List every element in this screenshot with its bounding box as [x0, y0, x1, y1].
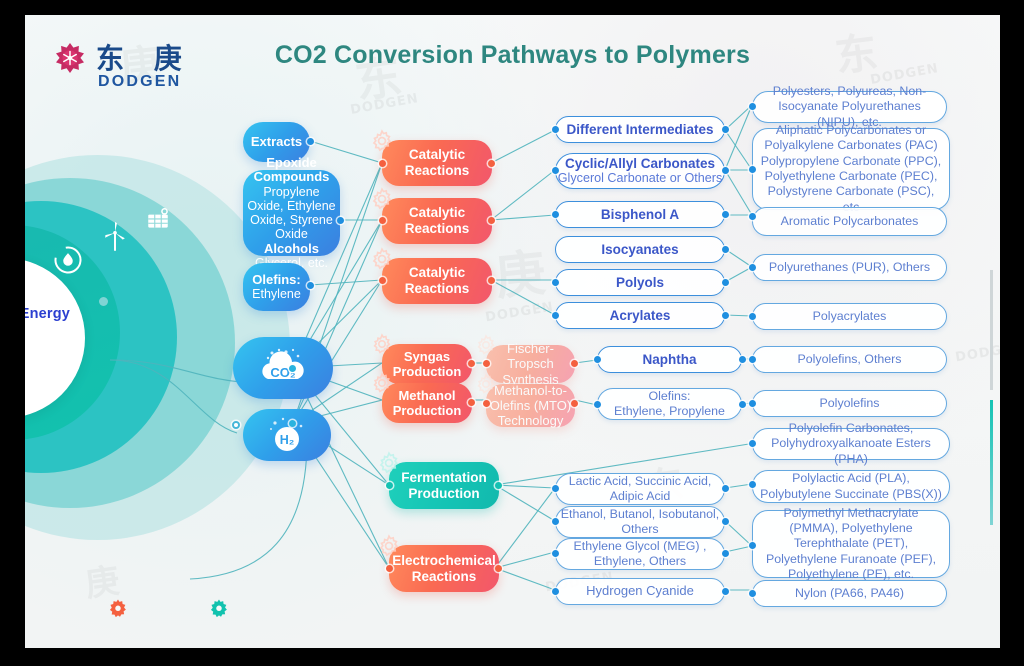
connector-dot	[488, 160, 495, 167]
connector-dot	[488, 277, 495, 284]
connector-dot	[749, 542, 756, 549]
page-title: CO2 Conversion Pathways to Polymers	[25, 41, 1000, 70]
connector-dot-co2-hub	[289, 365, 296, 372]
intermediate-meg[interactable]: Ethylene Glycol (MEG) , Ethylene, Others	[555, 538, 725, 570]
intermediate-label: Acrylates	[610, 308, 671, 324]
connector-dot	[386, 565, 393, 572]
connector-dot	[739, 401, 746, 408]
renewable-core-dot	[99, 297, 108, 306]
screenshot-canvas: 东 庚 DODGEN 东 DODGEN 庚 DODGEN 东 DODGEN DO…	[0, 0, 1024, 666]
intermediate-acids[interactable]: Lactic Acid, Succinic Acid, Adipic Acid	[555, 473, 725, 505]
connector-dot	[483, 400, 490, 407]
connector-dot	[722, 211, 729, 218]
connector-dot	[749, 356, 756, 363]
feedstock-olefins-title: Olefins:	[252, 273, 300, 288]
process-label: Methanol Production	[382, 388, 472, 419]
process-catalytic-reactions-1[interactable]: Catalytic Reactions	[382, 140, 492, 186]
intermediate-label: Bisphenol A	[601, 207, 679, 223]
polymer-polyacrylates[interactable]: Polyacrylates	[752, 303, 947, 330]
intermediate-hydrogen-cyanide[interactable]: Hydrogen Cyanide	[555, 578, 725, 605]
connector-dot	[488, 217, 495, 224]
polymer-polyolefin-carbonates-pha[interactable]: Polyolefin Carbonates, Polyhydroxyalkano…	[752, 428, 950, 460]
connector-dot	[571, 400, 578, 407]
connector-dot	[552, 167, 559, 174]
connector-dot	[495, 565, 502, 572]
intermediate-label: Cyclic/Allyl Carbonates	[565, 156, 715, 172]
gear-icon	[208, 598, 230, 620]
intermediate-polyols[interactable]: Polyols	[555, 269, 725, 296]
connector-dot	[722, 167, 729, 174]
watermark-glyph: 庚	[491, 233, 548, 310]
connector-dot	[552, 126, 559, 133]
intermediate-note: Glycerol Carbonate or Others	[558, 171, 723, 186]
feedstock-epoxide-title: Epoxide Compounds	[247, 156, 336, 185]
connector-dot	[749, 166, 756, 173]
intermediate-note: Lactic Acid, Succinic Acid, Adipic Acid	[556, 474, 724, 505]
connector-dot	[468, 399, 475, 406]
intermediate-naphtha[interactable]: Naphtha	[597, 346, 742, 373]
polymer-aliphatic-polycarbonates[interactable]: Aliphatic Polycarbonates or Polyalkylene…	[752, 128, 950, 210]
connector-dot	[552, 312, 559, 319]
connector-dot	[722, 518, 729, 525]
process-syngas-production[interactable]: Syngas Production	[382, 344, 472, 384]
process-label: Catalytic Reactions	[382, 147, 492, 179]
connector-dot	[483, 360, 490, 367]
subprocess-fischer-tropsch[interactable]: Fischer-Tropsch Synthesis	[486, 345, 575, 383]
subprocess-label: Fischer-Tropsch Synthesis	[486, 341, 575, 387]
intermediate-note: Ethylene Glycol (MEG) , Ethylene, Others	[556, 539, 724, 570]
intermediate-acrylates[interactable]: Acrylates	[555, 302, 725, 329]
svg-text:H₂: H₂	[280, 433, 295, 447]
process-catalytic-reactions-2[interactable]: Catalytic Reactions	[382, 198, 492, 244]
intermediate-note: Hydrogen Cyanide	[586, 583, 694, 599]
connector-dot	[594, 401, 601, 408]
connector-dot	[749, 440, 756, 447]
feedstock-co2[interactable]: CO₂	[233, 337, 333, 399]
polymer-polyesters-polyureas[interactable]: Polyesters, Polyureas, Non-Isocyanate Po…	[752, 91, 947, 123]
subprocess-label: Methanol-to-Olefins (MTO) Technology	[486, 383, 575, 429]
connector-dot	[337, 217, 344, 224]
brand-name-en: DODGEN	[98, 73, 181, 91]
process-label: Electrochemical Reactions	[389, 553, 499, 585]
feedstock-epoxide-compounds[interactable]: Epoxide Compounds Propylene Oxide, Ethyl…	[243, 170, 340, 256]
edge-artifact	[990, 400, 993, 525]
feedstock-olefins[interactable]: Olefins: Ethylene	[243, 263, 310, 311]
connector-dot	[307, 138, 314, 145]
process-fermentation-production[interactable]: Fermentation Production	[389, 462, 499, 509]
polymer-polyolefins[interactable]: Polyolefins	[752, 390, 947, 417]
connector-dot	[722, 246, 729, 253]
connector-dot	[552, 279, 559, 286]
process-label: Syngas Production	[382, 349, 472, 380]
polymer-label: Polyolefins, Others	[798, 352, 902, 367]
connector-dot	[386, 482, 393, 489]
feedstock-olefins-sub: Ethylene	[252, 287, 301, 301]
intermediate-bisphenol-a[interactable]: Bisphenol A	[555, 201, 725, 228]
connector-dot-h2-hub	[289, 420, 296, 427]
feedstock-extracts-label: Extracts	[251, 135, 302, 150]
connector-dot	[552, 518, 559, 525]
connector-dot	[468, 360, 475, 367]
connector-dot	[749, 213, 756, 220]
connector-dot	[379, 217, 386, 224]
connector-dot	[722, 588, 729, 595]
solar-panel-icon	[145, 207, 171, 239]
polymer-aromatic-polycarbonates[interactable]: Aromatic Polycarbonates	[752, 207, 947, 236]
connector-dot	[552, 485, 559, 492]
process-label: Fermentation Production	[389, 470, 499, 502]
intermediate-isocyanates[interactable]: Isocyanates	[555, 236, 725, 263]
feedstock-alcohols-title: Alcohols	[264, 242, 319, 257]
connector-dot	[552, 550, 559, 557]
intermediate-label: Different Intermediates	[566, 122, 713, 138]
polymer-label: Polyurethanes (PUR), Others	[769, 260, 930, 275]
polymer-label: Polymethyl Methacrylate (PMMA), Polyethy…	[758, 506, 944, 583]
feedstock-h2[interactable]: H₂	[243, 409, 331, 461]
process-methanol-production[interactable]: Methanol Production	[382, 383, 472, 423]
connector-dot	[749, 590, 756, 597]
polymer-polyurethanes[interactable]: Polyurethanes (PUR), Others	[752, 254, 947, 281]
connector-dot	[749, 313, 756, 320]
water-drop-icon	[53, 245, 83, 282]
connector-dot	[749, 264, 756, 271]
polymer-label: Polyolefins	[820, 396, 880, 411]
connector-dot	[379, 160, 386, 167]
watermark-text: DODGEN	[484, 300, 555, 326]
intermediate-label: Naphtha	[643, 352, 697, 368]
connector-dot	[232, 421, 240, 429]
polymer-label: Aliphatic Polycarbonates or Polyalkylene…	[758, 123, 944, 215]
connector-dot	[722, 126, 729, 133]
diagram-board: 东 庚 DODGEN 东 DODGEN 庚 DODGEN 东 DODGEN DO…	[25, 15, 1000, 648]
connector-dot	[552, 211, 559, 218]
polymer-pmma-pet-pef-pe[interactable]: Polymethyl Methacrylate (PMMA), Polyethy…	[752, 510, 950, 578]
process-label: Catalytic Reactions	[382, 205, 492, 237]
connector-dot	[307, 282, 314, 289]
intermediate-alcohols[interactable]: Ethanol, Butanol, Isobutanol, Others	[555, 506, 725, 538]
polymer-nylon[interactable]: Nylon (PA66, PA46)	[752, 580, 947, 607]
connector-dot	[722, 550, 729, 557]
wind-turbine-icon	[100, 220, 130, 259]
intermediate-different-intermediates[interactable]: Different Intermediates	[555, 116, 725, 143]
connector-dot	[749, 400, 756, 407]
watermark-text: DODGEN	[954, 340, 1000, 366]
watermark-text: DODGEN	[349, 91, 420, 118]
intermediate-label: Isocyanates	[601, 242, 678, 258]
intermediate-cyclic-allyl-carbonates[interactable]: Cyclic/Allyl Carbonates Glycerol Carbona…	[555, 153, 725, 189]
connector-dot	[749, 103, 756, 110]
polymer-polyolefins-others[interactable]: Polyolefins, Others	[752, 346, 947, 373]
connector-dot	[722, 312, 729, 319]
process-label: Catalytic Reactions	[382, 265, 492, 297]
polymer-label: Aromatic Polycarbonates	[781, 214, 919, 229]
polymer-label: Polyacrylates	[813, 309, 887, 324]
feedstock-epoxide-sub: Propylene Oxide, Ethylene Oxide, Styrene…	[247, 185, 336, 242]
intermediate-note: Ethanol, Butanol, Isobutanol, Others	[556, 507, 724, 538]
polymer-pla-pbs[interactable]: Polylactic Acid (PLA), Polybutylene Succ…	[752, 470, 950, 503]
polymer-label: Polyolefin Carbonates, Polyhydroxyalkano…	[758, 421, 944, 467]
process-electrochemical-reactions[interactable]: Electrochemical Reactions	[389, 545, 499, 592]
connector-dot	[379, 277, 386, 284]
co2-cloud-icon: CO₂	[252, 347, 314, 389]
connector-dot	[722, 485, 729, 492]
intermediate-label: Polyols	[616, 275, 664, 291]
renewable-energy-label: Renewable Energy	[25, 305, 79, 323]
polymer-label: Nylon (PA66, PA46)	[795, 586, 904, 601]
intermediate-note: Olefins: Ethylene, Propylene	[614, 389, 725, 420]
gear-icon	[107, 598, 129, 620]
connector-dot	[571, 360, 578, 367]
h2-bubble-icon: H₂	[259, 415, 315, 455]
connector-dot	[594, 356, 601, 363]
edge-artifact	[990, 270, 993, 390]
connector-dot	[739, 356, 746, 363]
process-catalytic-reactions-3[interactable]: Catalytic Reactions	[382, 258, 492, 304]
subprocess-mto[interactable]: Methanol-to-Olefins (MTO) Technology	[486, 384, 575, 427]
intermediate-olefins-ethylene-propylene[interactable]: Olefins: Ethylene, Propylene	[597, 388, 742, 420]
polymer-label: Polylactic Acid (PLA), Polybutylene Succ…	[758, 471, 944, 502]
connector-dot	[552, 588, 559, 595]
connector-dot	[722, 279, 729, 286]
connector-dot	[749, 481, 756, 488]
connector-dot	[495, 482, 502, 489]
